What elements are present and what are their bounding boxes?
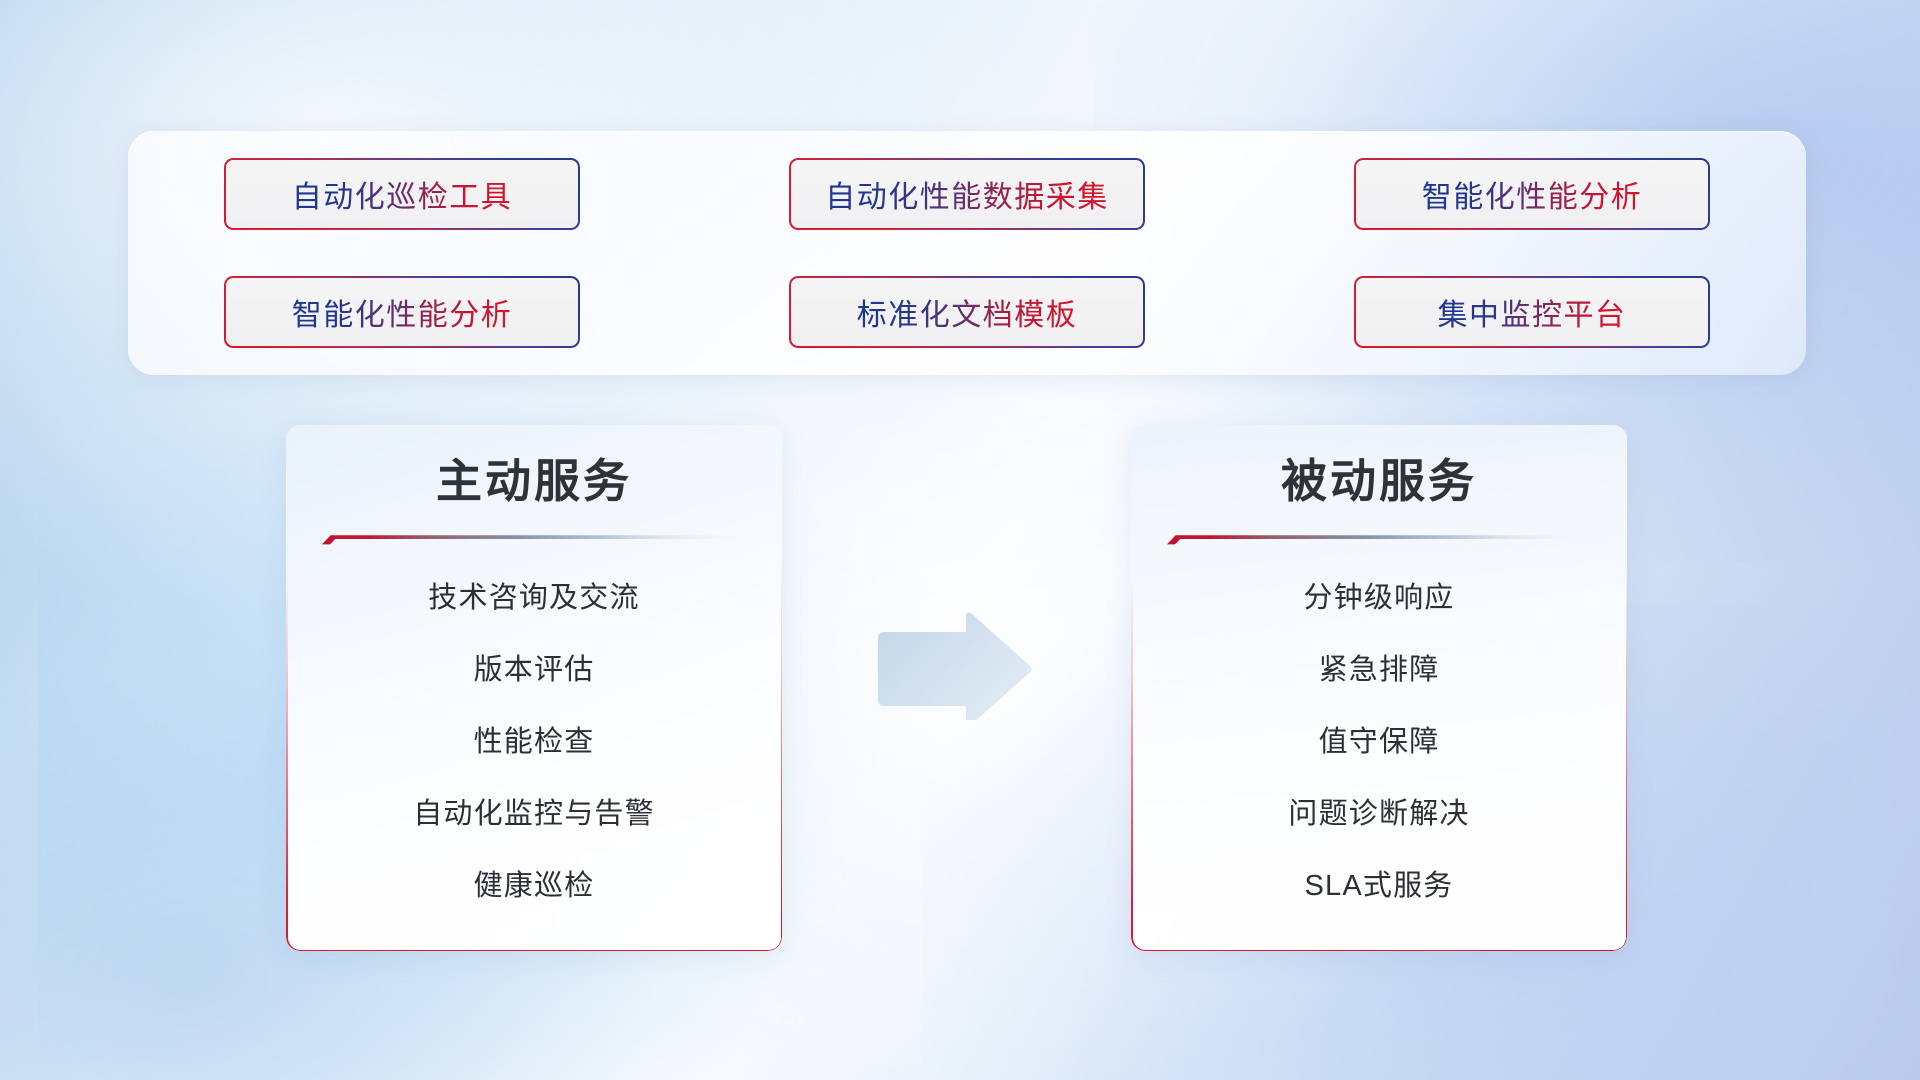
- list-item[interactable]: 版本评估: [320, 646, 748, 695]
- capability-pill-label: 智能化性能分析: [292, 290, 513, 334]
- list-item[interactable]: 技术咨询及交流: [320, 574, 748, 623]
- service-card-reactive: 被动服务 分钟级响应 紧急排障: [1131, 425, 1627, 951]
- card-content: 被动服务 分钟级响应 紧急排障: [1131, 425, 1627, 951]
- list-item[interactable]: 自动化监控与告警: [320, 790, 748, 839]
- capability-pill[interactable]: 标准化文档模板: [789, 276, 1145, 348]
- list-item[interactable]: SLA式服务: [1165, 862, 1593, 911]
- service-card-proactive: 主动服务 技术咨询及交流 版本评估: [286, 425, 782, 951]
- card-title: 主动服务: [320, 453, 748, 511]
- list-item[interactable]: 紧急排障: [1165, 646, 1593, 695]
- capability-pill-label: 标准化文档模板: [857, 290, 1078, 334]
- capabilities-panel: 自动化巡检工具 自动化性能数据采集 智能化性能分析 智能化性能分析 标准化文档模…: [128, 131, 1806, 375]
- arrow-right-icon: [874, 610, 1034, 720]
- capability-pill[interactable]: 集中监控平台: [1354, 276, 1710, 348]
- card-item-list: 分钟级响应 紧急排障 值守保障 问题诊断解决 SLA式服务: [1165, 574, 1593, 934]
- card-title: 被动服务: [1165, 453, 1593, 511]
- list-item[interactable]: 健康巡检: [320, 862, 748, 911]
- capability-pill-label: 智能化性能分析: [1422, 172, 1643, 216]
- capability-pill[interactable]: 智能化性能分析: [1354, 158, 1710, 230]
- capability-pill[interactable]: 自动化巡检工具: [224, 158, 580, 230]
- capabilities-row-1: 自动化巡检工具 自动化性能数据采集 智能化性能分析: [224, 158, 1710, 230]
- capability-pill[interactable]: 自动化性能数据采集: [789, 158, 1145, 230]
- capability-pill-label: 自动化性能数据采集: [825, 172, 1109, 216]
- capability-pill-label: 集中监控平台: [1438, 290, 1627, 334]
- list-item[interactable]: 分钟级响应: [1165, 574, 1593, 623]
- card-title-divider: [1167, 533, 1591, 546]
- capabilities-row-2: 智能化性能分析 标准化文档模板 集中监控平台: [224, 276, 1710, 348]
- card-title-divider: [322, 533, 746, 546]
- card-item-list: 技术咨询及交流 版本评估 性能检查 自动化监控与告警 健康巡检: [320, 574, 748, 934]
- list-item[interactable]: 性能检查: [320, 718, 748, 767]
- capability-pill-label: 自动化巡检工具: [292, 172, 513, 216]
- list-item[interactable]: 问题诊断解决: [1165, 790, 1593, 839]
- capability-pill[interactable]: 智能化性能分析: [224, 276, 580, 348]
- card-content: 主动服务 技术咨询及交流 版本评估: [286, 425, 782, 951]
- list-item[interactable]: 值守保障: [1165, 718, 1593, 767]
